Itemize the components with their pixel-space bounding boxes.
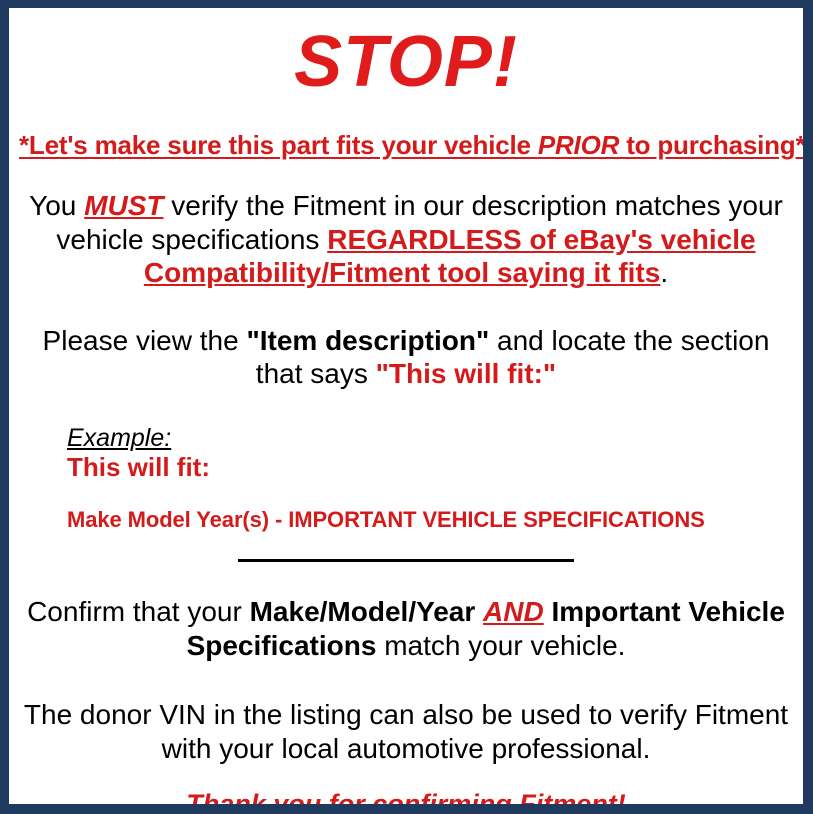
example-spec-line: Make Model Year(s) - IMPORTANT VEHICLE S… <box>67 507 793 533</box>
example-block: Example: This will fit: Make Model Year(… <box>19 425 793 533</box>
fitment-notice-frame: STOP! *Let's make sure this part fits yo… <box>0 0 813 814</box>
divider <box>19 559 793 571</box>
must-part1: You <box>29 190 84 221</box>
divider-line <box>238 559 574 562</box>
confirm-part1: Confirm that your <box>27 596 250 627</box>
emphasis-make-model-year: Make/Model/Year <box>250 596 476 627</box>
emphasis-item-description: "Item description" <box>246 325 489 356</box>
item-description-paragraph: Please view the "Item description" and l… <box>19 324 793 391</box>
example-label: Example: <box>67 425 793 451</box>
subtitle-emphasis-prior: PRIOR <box>538 130 619 160</box>
example-fit-line: This will fit: <box>67 453 793 483</box>
confirm-part2 <box>475 596 483 627</box>
page-title: STOP! <box>19 26 793 98</box>
confirm-part3 <box>544 596 552 627</box>
must-verify-paragraph: You MUST verify the Fitment in our descr… <box>19 189 793 290</box>
thanks-message: Thank you for confirming Fitment! <box>19 789 793 814</box>
vin-paragraph: The donor VIN in the listing can also be… <box>19 698 793 765</box>
emphasis-must: MUST <box>84 190 163 221</box>
subtitle-after: to purchasing* <box>619 130 805 160</box>
confirm-paragraph: Confirm that your Make/Model/Year AND Im… <box>19 595 793 662</box>
emphasis-and: AND <box>483 596 544 627</box>
subtitle-before: *Let's make sure this part fits your veh… <box>19 130 538 160</box>
subtitle-banner: *Let's make sure this part fits your veh… <box>19 130 793 161</box>
notice-body: STOP! *Let's make sure this part fits yo… <box>9 26 803 814</box>
must-part3: . <box>660 257 668 288</box>
confirm-part4: match your vehicle. <box>376 630 625 661</box>
itemdesc-part1: Please view the <box>43 325 247 356</box>
emphasis-this-will-fit: "This will fit:" <box>376 358 557 389</box>
